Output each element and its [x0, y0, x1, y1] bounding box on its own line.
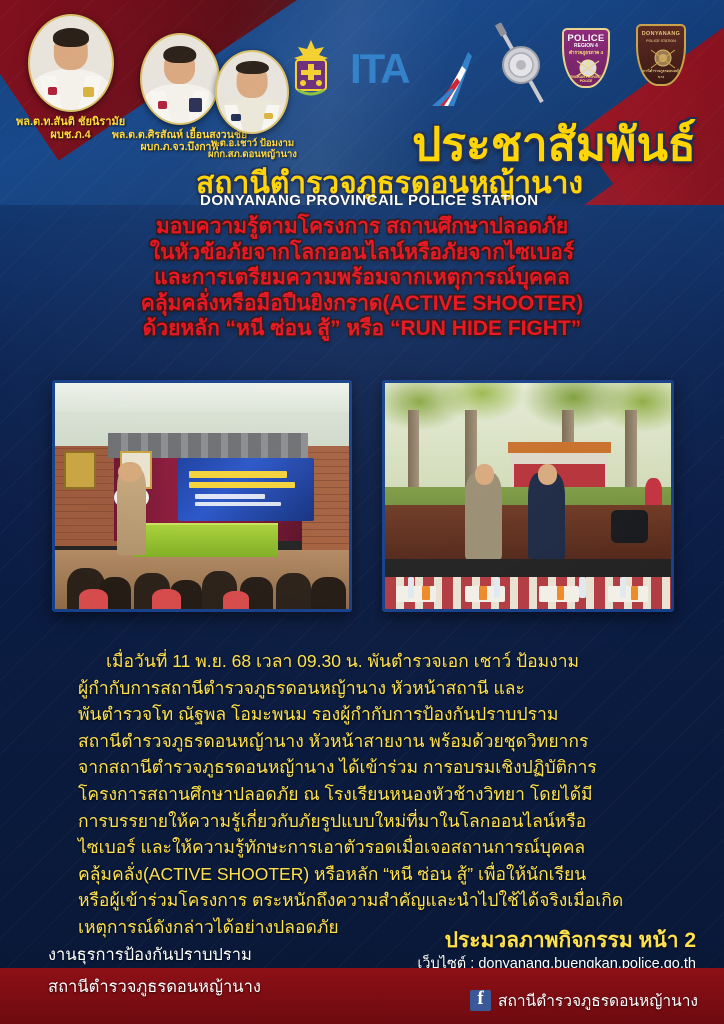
- poster-root: พล.ต.ท.สันติ ชัยนิรามัย ผบช.ภ.4 พล.ต.ต.ศ…: [0, 0, 724, 1024]
- donyanang-shield-icon: DONYANANG POLICE STATION สถานีตำรวจภูธรด…: [636, 24, 686, 86]
- officer-card-1: พล.ต.ท.สันติ ชัยนิรามัย ผบช.ภ.4: [16, 14, 125, 142]
- ita-logo: ITA: [350, 48, 409, 90]
- facebook-link[interactable]: สถานีตำรวจภูธรดอนหญ้านาง: [470, 988, 698, 1013]
- department-line-1: งานธุรการป้องกันปราบปราม: [48, 942, 252, 968]
- ita-logo-text: ITA: [350, 48, 409, 90]
- sword-medal-icon: [484, 18, 554, 115]
- page-title-en: DONYANANG PROVINCAIL POLICE STATION: [200, 192, 539, 205]
- donyanang-shield-sub: POLICE STATION: [638, 39, 684, 43]
- officer-rank-1: ผบช.ภ.4: [16, 129, 125, 142]
- photo-outdoor-officials: [382, 380, 674, 612]
- facebook-icon[interactable]: [470, 990, 491, 1011]
- body-line: พันตำรวจโท ณัฐพล โอมะพนม รองผู้กำกับการป…: [0, 701, 724, 728]
- body-line: จากสถานีตำรวจภูธรดอนหญ้านาง ได้เข้าร่วม …: [0, 754, 724, 781]
- body-line: โครงการสถานศึกษาปลอดภัย ณ โรงเรียนหนองหั…: [0, 781, 724, 808]
- body-line: ผู้กำกับการสถานีตำรวจภูธรดอนหญ้านาง หัวห…: [0, 675, 724, 702]
- donyanang-shield-label: DONYANANG: [638, 31, 684, 37]
- body-line: ไซเบอร์ และให้ความรู้ทักษะการเอาตัวรอดเม…: [0, 834, 724, 861]
- facebook-page-name[interactable]: สถานีตำรวจภูธรดอนหญ้านาง: [498, 988, 698, 1013]
- headline-line: มอบความรู้ตามโครงการ สถานศึกษาปลอดภัย: [0, 214, 724, 240]
- officer-portrait-1: [28, 14, 114, 112]
- body-line: การบรรยายให้ความรู้เกี่ยวกับภัยรูปแบบใหม…: [0, 808, 724, 835]
- officer-card-3: พ.ต.อ.เชาว์ ป้อมงาม ผกก.สภ.ดอนหญ้านาง: [208, 50, 297, 160]
- photo-training-hall: [52, 380, 352, 612]
- department-line-2: สถานีตำรวจภูธรดอนหญ้านาง: [48, 974, 261, 1000]
- department-text-1: งานธุรการป้องกันปราบปราม: [48, 942, 252, 968]
- headline-line: ด้วยหลัก “หนี ซ่อน สู้” หรือ “RUN HIDE F…: [0, 316, 724, 342]
- body-line: เมื่อวันที่ 11 พ.ย. 68 เวลา 09.30 น. พัน…: [0, 648, 724, 675]
- body-line: หรือผู้เข้าร่วมโครงการ ตระหนักถึงความสำค…: [0, 887, 724, 914]
- body-paragraph: เมื่อวันที่ 11 พ.ย. 68 เวลา 09.30 น. พัน…: [0, 648, 724, 941]
- donyanang-shield-thai: สถานีตำรวจภูธรดอนหญ้านาง: [638, 68, 684, 80]
- police-shield-sub: REGION 4: [564, 43, 608, 49]
- royal-crest-icon: [288, 38, 334, 105]
- officer-portrait-3: [215, 50, 289, 134]
- headline-line: คลุ้มคลั่งหรือมือปืนยิงกราด(ACTIVE SHOOT…: [0, 291, 724, 317]
- body-line: สถานีตำรวจภูธรดอนหญ้านาง หัวหน้าสายงาน พ…: [0, 728, 724, 755]
- headline-line: และการเตรียมความพร้อมจากเหตุการณ์บุคคล: [0, 265, 724, 291]
- headline-block: มอบความรู้ตามโครงการ สถานศึกษาปลอดภัย ใน…: [0, 214, 724, 342]
- officer-rank-3: ผกก.สภ.ดอนหญ้านาง: [208, 149, 297, 160]
- poster-header: พล.ต.ท.สันติ ชัยนิรามัย ผบช.ภ.4 พล.ต.ต.ศ…: [0, 0, 724, 205]
- police-shield-bottom: BUENGKAN PROVINCIAL POLICE: [564, 75, 608, 83]
- officer-name-1: พล.ต.ท.สันติ ชัยนิรามัย: [16, 116, 125, 129]
- officer-name-3: พ.ต.อ.เชาว์ ป้อมงาม: [208, 138, 297, 149]
- body-line: คลุ้มคลั่ง(ACTIVE SHOOTER) หรือหลัก “หนี…: [0, 861, 724, 888]
- police-region-4-shield-icon: POLICE REGION 4 ตำรวจภูธรภาค 4 BUENGKAN …: [562, 28, 610, 88]
- headline-line: ในหัวข้อภัยจากโลกออนไลน์หรือภัยจากไซเบอร…: [0, 240, 724, 266]
- department-text-2: สถานีตำรวจภูธรดอนหญ้านาง: [48, 974, 261, 1000]
